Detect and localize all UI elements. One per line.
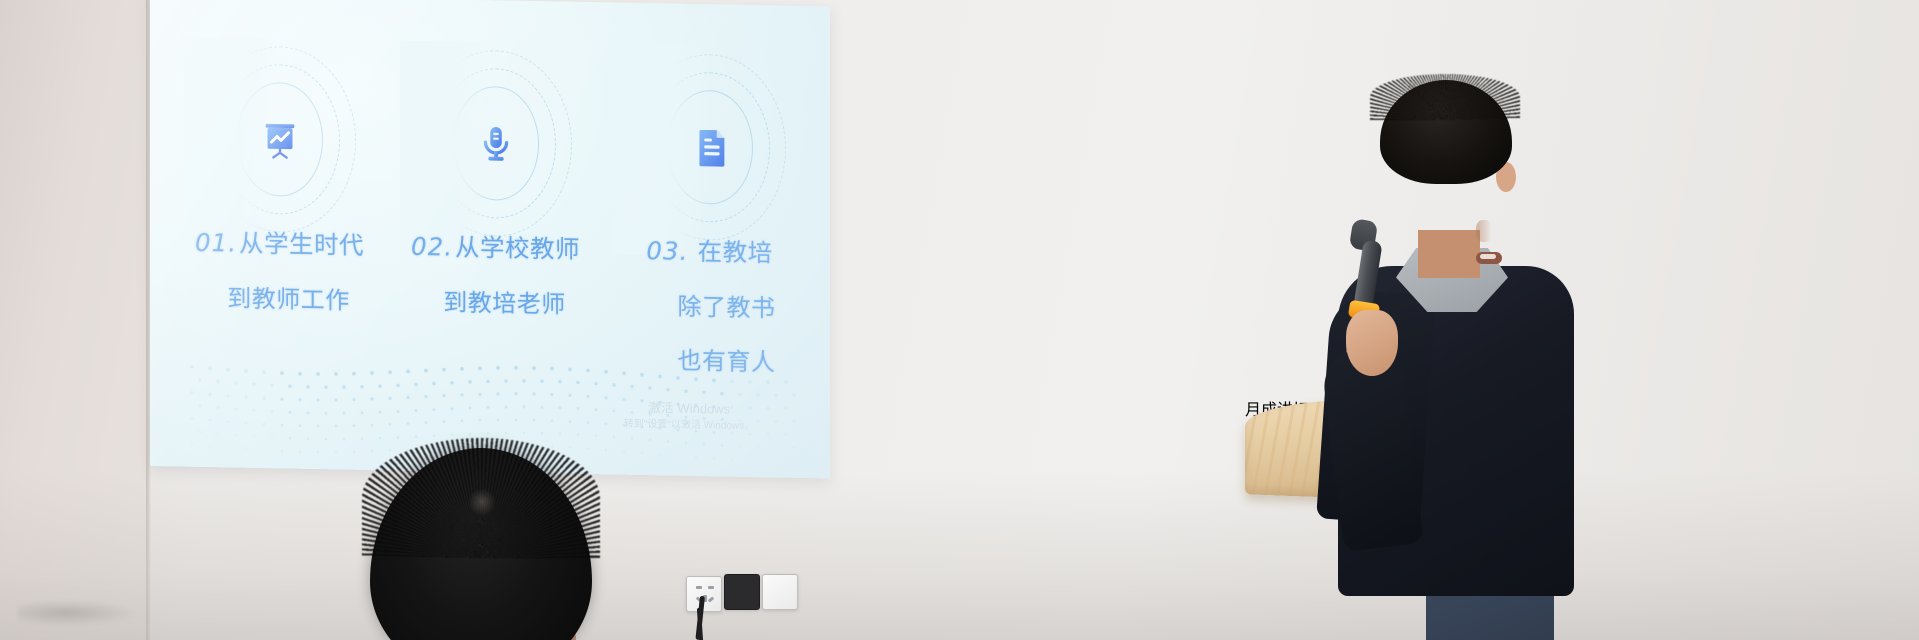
presentation-chart-icon (257, 116, 303, 163)
wall-scuff-mark (18, 600, 138, 626)
document-icon (687, 124, 733, 171)
slide-text-02: 02.从学校教师 到教培老师 (388, 234, 603, 347)
icon-rings-03 (620, 71, 800, 224)
windows-activation-watermark: 激活 Windows 转到"设置"以激活 Windows。 (574, 398, 804, 436)
slide-content: 01.从学生时代 到教师工作 (150, 0, 830, 478)
presenter-mouth (1476, 252, 1502, 264)
presenter-nose (1476, 220, 1492, 242)
icon-rings-01 (190, 63, 370, 216)
icon-rings-02 (406, 67, 586, 220)
slide-line-03-1: 03. 在教培 (602, 238, 817, 267)
wall-socket-middle (724, 574, 760, 610)
microphone-icon (473, 120, 519, 167)
presenter-hand (1346, 310, 1398, 376)
slide-line-01-2: 到教师工作 (172, 286, 387, 314)
slide-number-01: 01. (195, 228, 237, 258)
slide-number-03: 03. (646, 236, 688, 266)
slide-line-03-2: 除了教书 (602, 294, 817, 322)
presenter-hair-texture (1370, 74, 1520, 120)
audience-head (370, 448, 592, 640)
photo-scene: 01.从学生时代 到教师工作 (0, 0, 1919, 640)
slide-line-text: 从学生时代 (239, 231, 364, 260)
presenter-person (1310, 80, 1630, 640)
audience-hair-crown (468, 488, 496, 516)
projection-screen: 01.从学生时代 到教师工作 (150, 0, 830, 478)
slide-line-text: 在教培 (698, 239, 773, 267)
wall-socket-left (686, 576, 722, 612)
slide-line-02-2: 到教培老师 (388, 290, 603, 318)
slide-line-02-1: 02.从学校教师 (388, 234, 603, 263)
wall-floor-shadow (0, 470, 1919, 640)
slide-line-01-1: 01.从学生时代 (172, 230, 387, 259)
wall-socket-right (762, 574, 798, 610)
slide-text-01: 01.从学生时代 到教师工作 (172, 230, 387, 343)
slide-number-02: 02. (411, 232, 453, 262)
slide-line-text: 从学校教师 (455, 235, 580, 264)
